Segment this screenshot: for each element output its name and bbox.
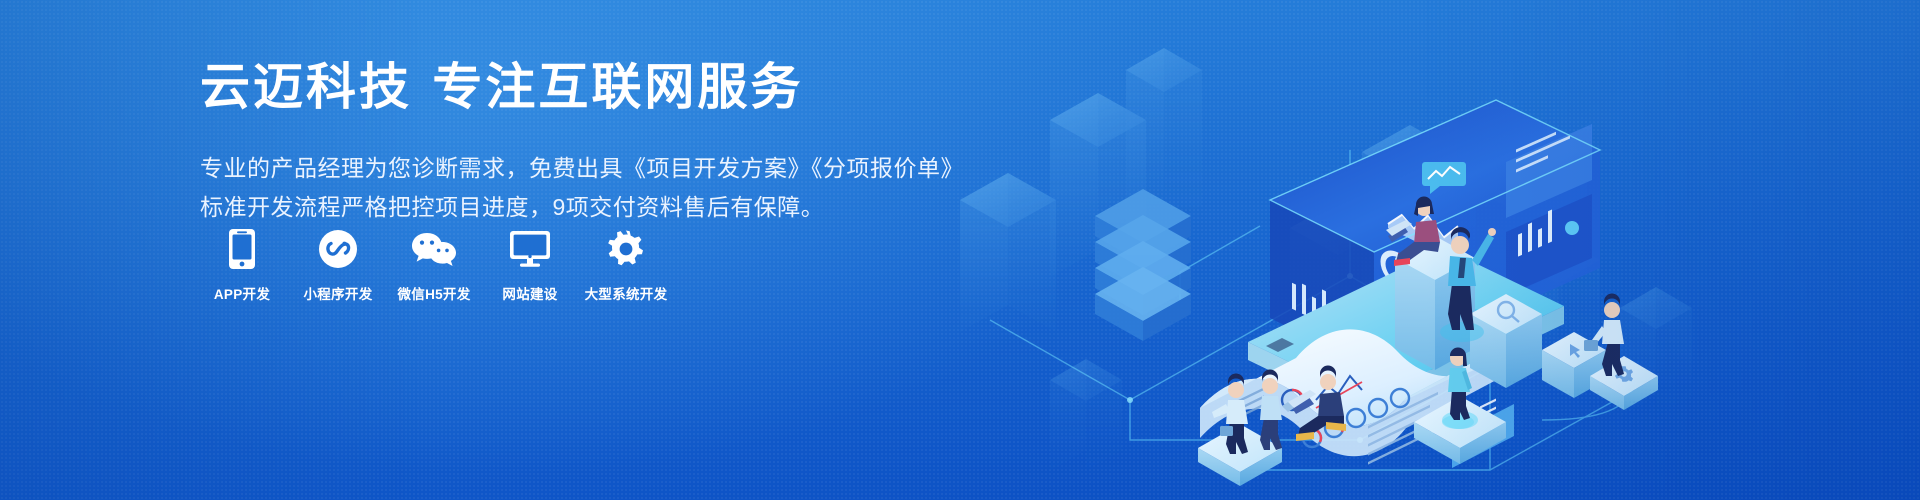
service-label: 网站建设: [502, 283, 557, 303]
copy-block: 云迈科技 专注互联网服务 专业的产品经理为您诊断需求，免费出具《项目开发方案》《…: [200, 62, 960, 227]
subtitle-line-1: 专业的产品经理为您诊断需求，免费出具《项目开发方案》《分项报价单》: [200, 150, 960, 187]
service-item-large-system[interactable]: 大型系统开发: [590, 228, 662, 303]
gear-icon: [606, 228, 646, 270]
mobile-phone-icon: [228, 228, 256, 270]
server-stack: [1095, 189, 1191, 341]
service-item-mini-program[interactable]: 小程序开发: [302, 228, 374, 303]
service-label: 小程序开发: [304, 283, 373, 303]
mini-program-icon: [318, 228, 358, 270]
service-list: APP开发 小程序开发: [206, 228, 662, 303]
wechat-icon: [410, 228, 458, 270]
page-title: 云迈科技 专注互联网服务: [200, 62, 960, 112]
illustration: [930, 0, 1920, 500]
service-label: 大型系统开发: [585, 283, 668, 303]
service-item-website[interactable]: 网站建设: [494, 228, 566, 303]
service-label: 微信H5开发: [397, 283, 470, 303]
subtitle-line-2: 标准开发流程严格把控项目进度，9项交付资料售后有保障。: [200, 189, 960, 226]
service-item-app[interactable]: APP开发: [206, 228, 278, 303]
hero-banner: 云迈科技 专注互联网服务 专业的产品经理为您诊断需求，免费出具《项目开发方案》《…: [0, 0, 1920, 500]
service-label: APP开发: [214, 283, 270, 303]
service-item-wechat-h5[interactable]: 微信H5开发: [398, 228, 470, 303]
monitor-icon: [509, 228, 551, 270]
